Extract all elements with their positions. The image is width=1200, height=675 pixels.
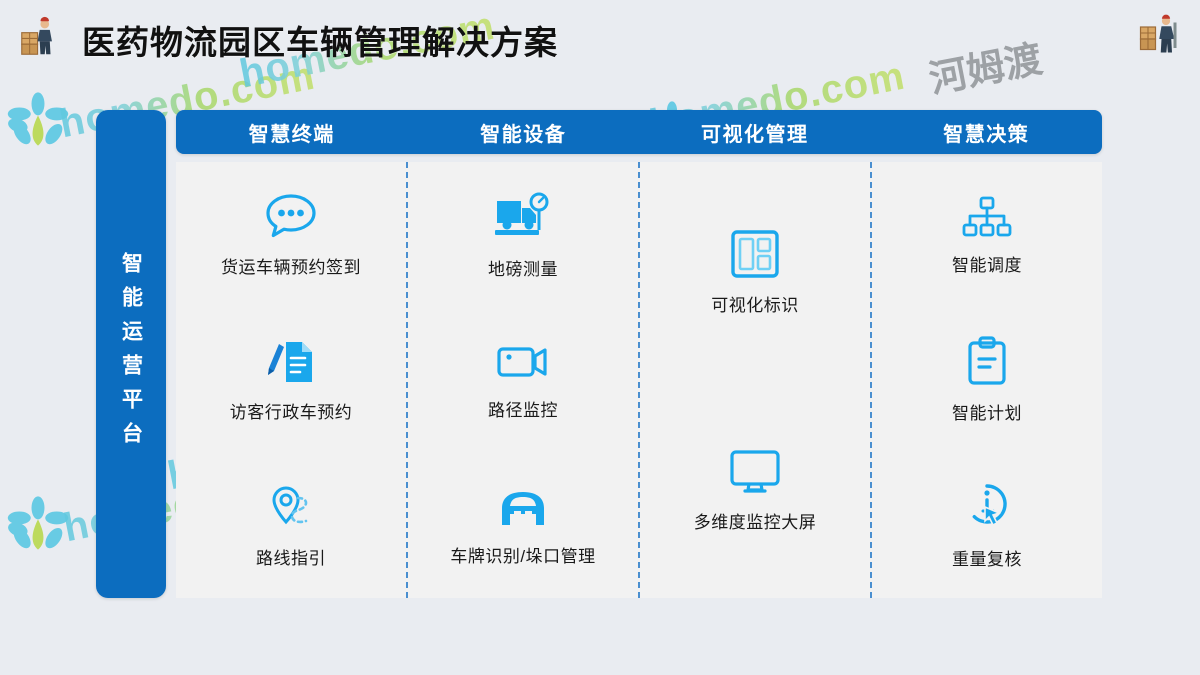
flower-logo-icon xyxy=(2,492,74,564)
feature-item[interactable]: 智能计划 xyxy=(872,307,1102,452)
feature-label: 智能计划 xyxy=(952,399,1022,424)
feature-label: 车牌识别/垛口管理 xyxy=(450,542,595,567)
feature-item[interactable]: 可视化标识 xyxy=(640,162,870,380)
column-header-smart-device[interactable]: 智能设备 xyxy=(408,110,640,154)
warehouse-worker-icon xyxy=(16,14,62,60)
feature-item[interactable]: 智能调度 xyxy=(872,162,1102,307)
title-bar: 医药物流园区车辆管理解决方案 xyxy=(0,8,1200,66)
column-header-smart-decision[interactable]: 智慧决策 xyxy=(871,110,1103,154)
feature-item[interactable]: 路线指引 xyxy=(176,453,406,598)
speech-bubble-dots-icon xyxy=(262,191,320,243)
info-cursor-icon xyxy=(959,481,1015,535)
column-smart-decision: 智能调度 智能计划 xyxy=(870,162,1102,598)
feature-label: 多维度监控大屏 xyxy=(694,508,817,533)
feature-item[interactable]: 货运车辆预约签到 xyxy=(176,162,406,307)
feature-item[interactable]: 路径监控 xyxy=(408,307,638,452)
feature-label: 路径监控 xyxy=(488,396,558,421)
feature-label: 地磅测量 xyxy=(488,255,558,280)
feature-label: 货运车辆预约签到 xyxy=(221,253,361,278)
feature-item[interactable]: 重量复核 xyxy=(872,453,1102,598)
feature-label: 访客行政车预约 xyxy=(230,398,353,423)
solution-diagram: 智能运营平台 智慧终端 智能设备 可视化管理 智慧决策 货运车辆预约签到 xyxy=(96,110,1102,598)
feature-label: 路线指引 xyxy=(256,544,326,569)
platform-sidebar: 智能运营平台 xyxy=(96,110,166,598)
feature-label: 重量复核 xyxy=(952,545,1022,570)
column-body-panel: 货运车辆预约签到 访客行政车预约 xyxy=(176,162,1102,598)
car-icon xyxy=(492,484,554,532)
page-title: 医药物流园区车辆管理解决方案 xyxy=(82,16,558,64)
column-header-visual-management[interactable]: 可视化管理 xyxy=(639,110,871,154)
feature-item[interactable]: 访客行政车预约 xyxy=(176,307,406,452)
diagram-board: 智慧终端 智能设备 可视化管理 智慧决策 货运车辆预约签到 xyxy=(176,110,1102,598)
dashboard-layout-icon xyxy=(727,227,783,281)
feature-label: 智能调度 xyxy=(952,251,1022,276)
column-visual-management: 可视化标识 多维度监控大屏 xyxy=(638,162,870,598)
forklift-icon xyxy=(1136,12,1184,60)
sidebar-label: 智能运营平台 xyxy=(121,252,142,456)
feature-item[interactable]: 车牌识别/垛口管理 xyxy=(408,453,638,598)
video-camera-icon xyxy=(493,338,553,386)
feature-label: 可视化标识 xyxy=(711,291,799,316)
org-tree-icon xyxy=(958,193,1016,241)
feature-item[interactable]: 地磅测量 xyxy=(408,162,638,307)
monitor-icon xyxy=(725,446,785,498)
clipboard-icon xyxy=(960,335,1014,389)
flower-logo-icon xyxy=(2,88,74,160)
pen-document-icon xyxy=(262,336,320,388)
feature-item[interactable]: 多维度监控大屏 xyxy=(640,380,870,598)
column-smart-device: 地磅测量 路径监控 xyxy=(406,162,638,598)
truck-weighbridge-icon xyxy=(491,189,555,245)
column-smart-terminal: 货运车辆预约签到 访客行政车预约 xyxy=(176,162,406,598)
column-header-smart-terminal[interactable]: 智慧终端 xyxy=(176,110,408,154)
column-header-bar: 智慧终端 智能设备 可视化管理 智慧决策 xyxy=(176,110,1102,154)
map-pin-route-icon xyxy=(262,482,320,534)
